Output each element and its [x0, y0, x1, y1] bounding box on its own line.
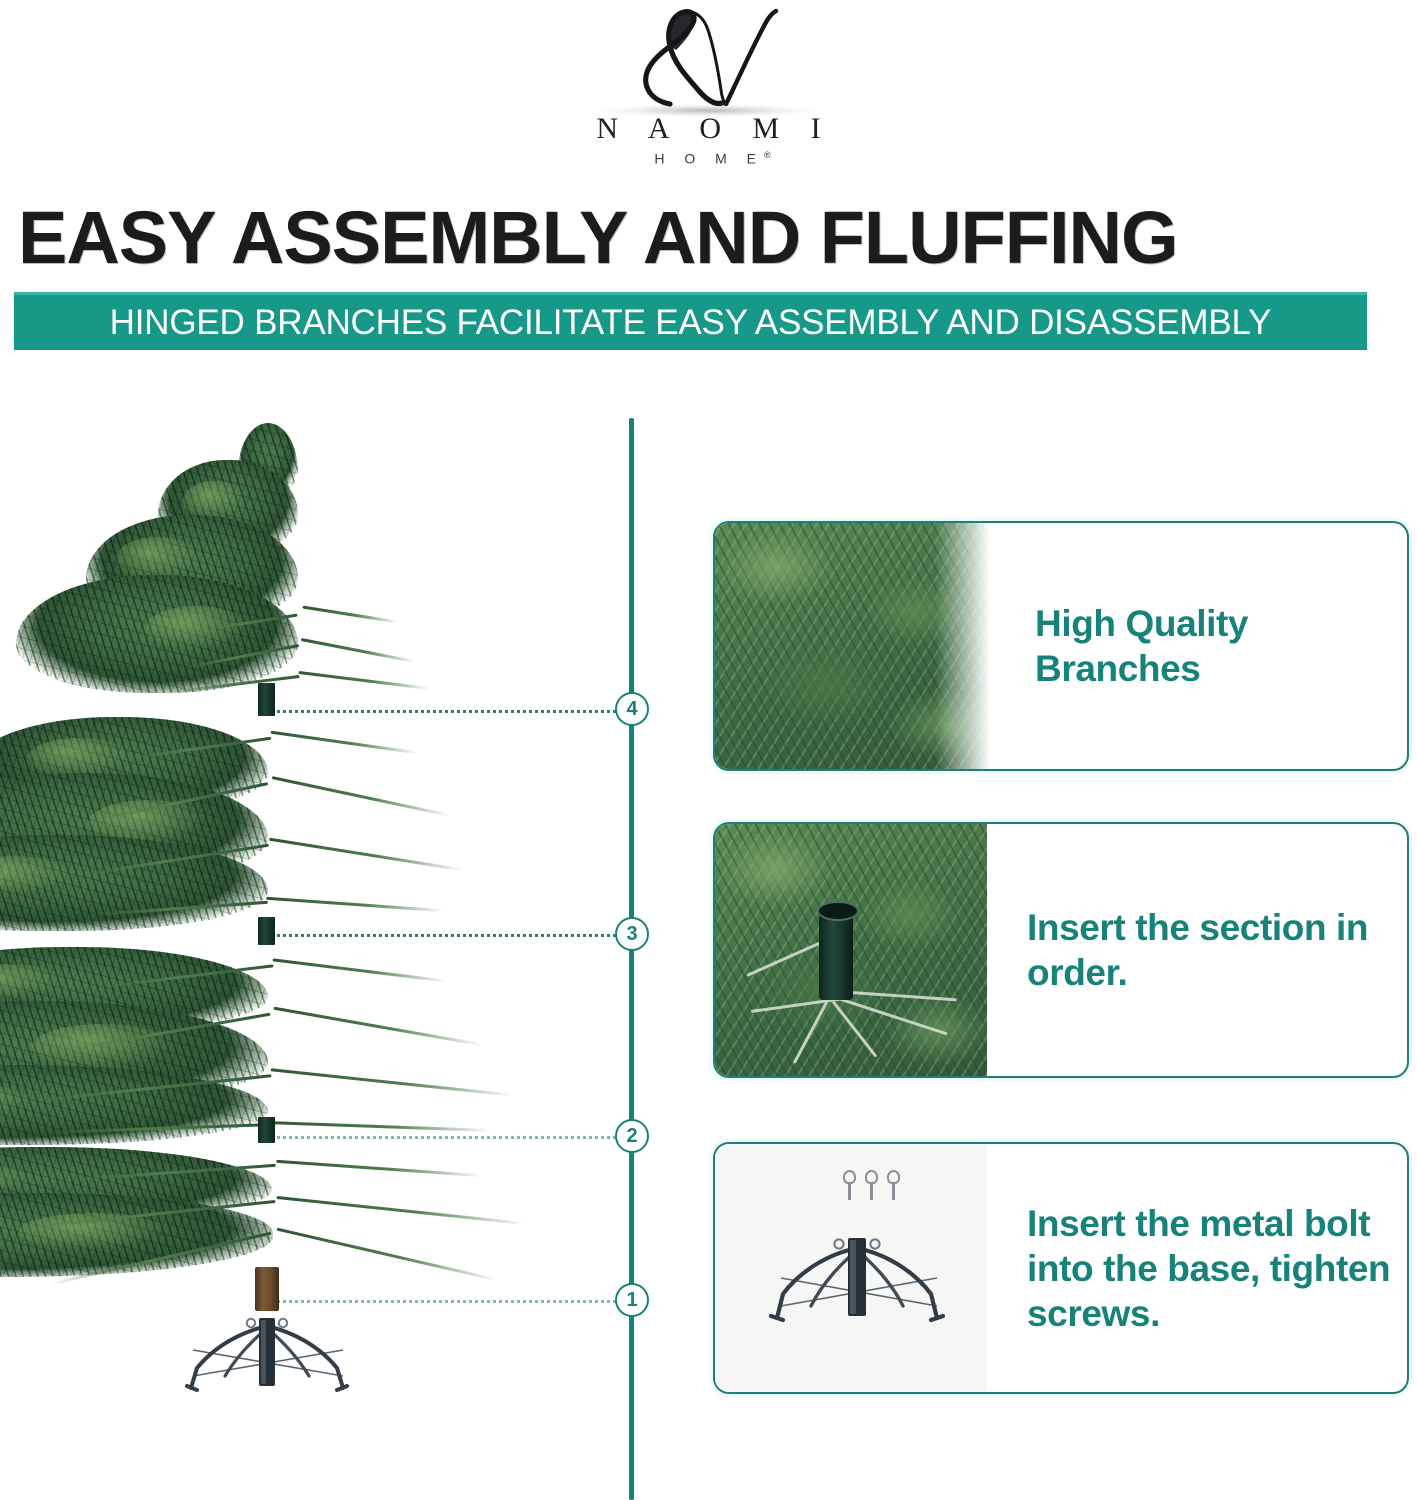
registered-mark: ®	[764, 150, 771, 160]
folding-metal-tree-stand	[175, 1310, 360, 1405]
feature-card-insert-section[interactable]: Insert the section in order.	[713, 822, 1409, 1078]
step-node-1[interactable]: 1	[615, 1283, 649, 1317]
connector-line-1	[266, 1300, 622, 1303]
tree-trunk	[255, 1267, 279, 1311]
brand-sub-wordmark: H O M E®	[0, 150, 1417, 167]
connector-line-3	[270, 934, 622, 937]
feature-card-insert-section-title: Insert the section in order.	[1027, 905, 1407, 995]
wing-screw-icon-1	[843, 1170, 856, 1200]
step-node-4[interactable]: 4	[615, 692, 649, 726]
connector-line-2	[266, 1136, 622, 1139]
subtitle-text: HINGED BRANCHES FACILITATE EASY ASSEMBLY…	[110, 303, 1272, 343]
feature-card-metal-bolt[interactable]: Insert the metal bolt into the base, tig…	[713, 1142, 1409, 1394]
naomi-n-monogram-icon	[608, 8, 808, 108]
page-title: EASY ASSEMBLY AND FLUFFING	[18, 198, 1408, 280]
hinge-pole-photo	[715, 824, 987, 1076]
branch-closeup-photo	[715, 523, 995, 769]
tree-branch-closeup-icon	[715, 523, 995, 769]
tree-pole-2	[258, 1117, 275, 1143]
connector-line-4	[270, 710, 622, 713]
brand-sub-text: H O M E	[654, 151, 764, 167]
subtitle-banner: HINGED BRANCHES FACILITATE EASY ASSEMBLY…	[14, 292, 1367, 350]
feature-card-branches[interactable]: High Quality Branches	[713, 521, 1409, 771]
brand-wordmark: N A O M I	[0, 112, 1417, 146]
feature-card-metal-bolt-title: Insert the metal bolt into the base, tig…	[1027, 1201, 1407, 1336]
step-node-2[interactable]: 2	[615, 1119, 649, 1153]
assembly-order-timeline	[629, 418, 634, 1500]
tree-pole-3	[258, 917, 275, 945]
tree-pole-4	[258, 683, 275, 716]
metal-stand-photo	[715, 1144, 987, 1392]
hinge-pole-icon	[819, 908, 853, 1000]
step-node-3[interactable]: 3	[615, 917, 649, 951]
wing-screw-icon-2	[865, 1170, 878, 1200]
brand-logo-block: N A O M I H O M E®	[0, 4, 1417, 184]
wing-screw-icon-3	[887, 1170, 900, 1200]
christmas-tree-assembly-diagram	[0, 405, 612, 1435]
metal-stand-icon	[757, 1228, 957, 1338]
feature-card-branches-title: High Quality Branches	[1035, 601, 1407, 691]
